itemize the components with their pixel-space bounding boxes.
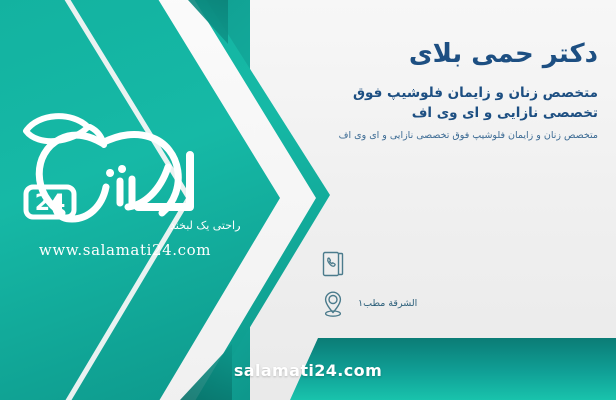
doctor-specialty: متخصص زنان و زایمان فلوشیپ فوق تخصصی ناز… bbox=[318, 83, 598, 124]
footer-website[interactable]: salamati24.com bbox=[0, 361, 616, 380]
logo-website-url[interactable]: www.salamati24.com bbox=[10, 241, 240, 259]
apple-leaf-logo-icon: 24 براحتی یک لبخند bbox=[10, 95, 240, 245]
map-pin-icon bbox=[318, 288, 348, 320]
contact-list: الشرقة مطب۱ bbox=[318, 248, 598, 328]
business-card: 24 براحتی یک لبخند www.salamati24.com دک… bbox=[0, 0, 616, 400]
logo-tagline-text: براحتی یک لبخند bbox=[170, 219, 240, 232]
contact-row-address[interactable]: الشرقة مطب۱ bbox=[318, 288, 598, 320]
doctor-name: دکتر حمی بلای bbox=[318, 38, 598, 71]
contact-address-label: الشرقة مطب۱ bbox=[358, 297, 417, 310]
logo-badge-number: 24 bbox=[35, 191, 66, 216]
salamati24-logo[interactable]: 24 براحتی یک لبخند www.salamati24.com bbox=[10, 95, 240, 270]
phone-book-icon bbox=[318, 248, 348, 280]
doctor-specialty-secondary: متخصص زنان و زایمان فلوشیپ فوق تخصصی ناز… bbox=[318, 128, 598, 144]
contact-row-phone[interactable] bbox=[318, 248, 598, 280]
